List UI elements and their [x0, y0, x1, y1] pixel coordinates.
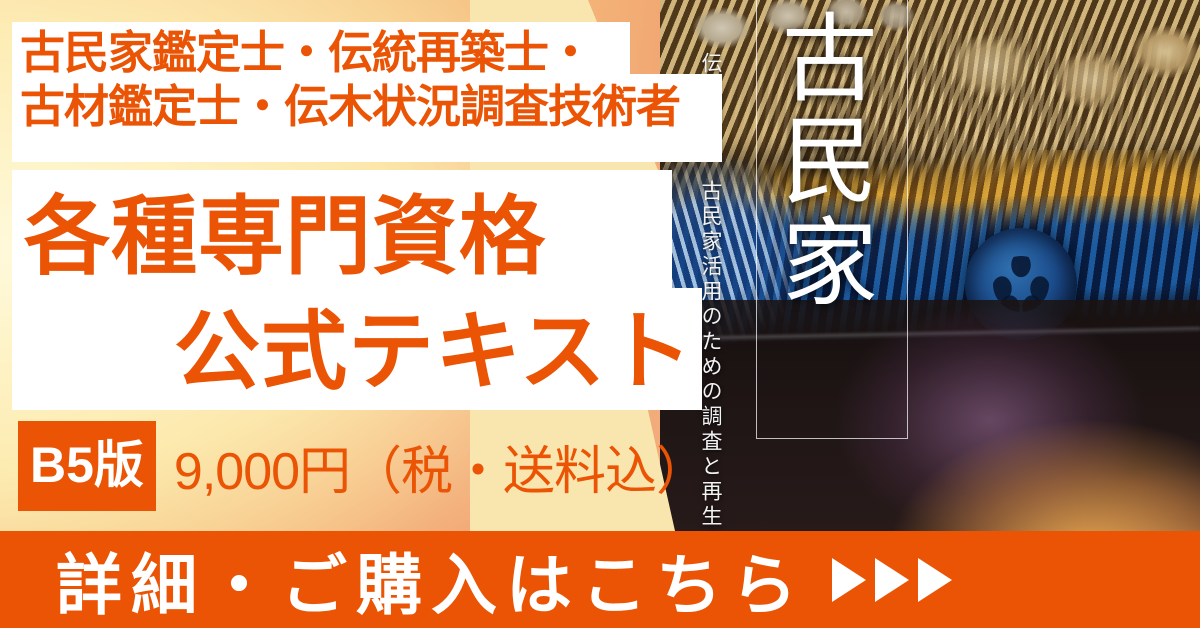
headline-line-2: 公式テキスト — [24, 295, 704, 410]
triangle-right-icon — [832, 558, 866, 602]
promo-banner: 古民家 伝統構法 古民家活用のための調査と再生の 古民家鑑定士・伝統再築士・ 古… — [0, 0, 1200, 628]
kicker-line-1: 古民家鑑定士・伝統再築士・ — [20, 26, 720, 80]
headline-line-1: 各種専門資格 — [24, 180, 704, 295]
kicker-line-2: 古材鑑定士・伝木状況調査技術者 — [20, 80, 720, 134]
price-row: B5版 9,000円（税・送料込） — [18, 420, 707, 512]
cover-vertical-title: 古民家 — [764, 8, 877, 314]
triangle-right-icon — [918, 558, 952, 602]
headline-text: 各種専門資格 公式テキスト — [24, 180, 704, 410]
cta-label[interactable]: 詳細・ご購入はこちら — [56, 532, 806, 628]
cta-arrows — [832, 558, 952, 602]
price-label: 9,000円（税・送料込） — [174, 429, 707, 504]
cta-bar[interactable]: 詳細・ご購入はこちら — [0, 531, 1200, 628]
format-badge: B5版 — [18, 421, 156, 511]
kicker-text: 古民家鑑定士・伝統再築士・ 古材鑑定士・伝木状況調査技術者 — [20, 26, 720, 134]
triangle-right-icon — [875, 558, 909, 602]
